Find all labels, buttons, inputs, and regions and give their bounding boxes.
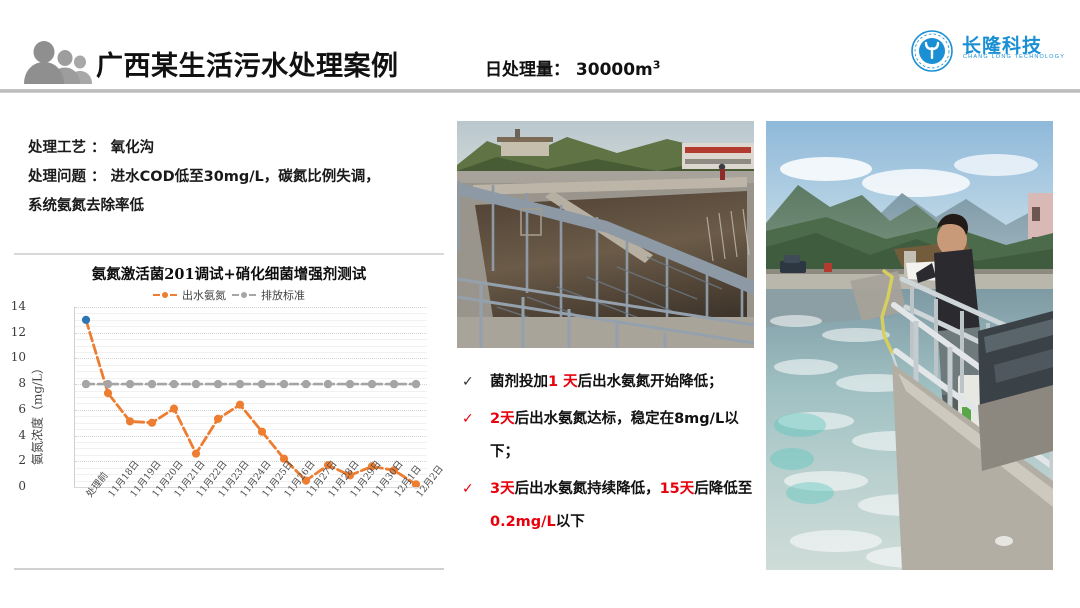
y-tick-label: 14 <box>0 299 26 313</box>
data-point[interactable] <box>126 417 134 425</box>
y-tick-label: 12 <box>0 325 26 339</box>
bullet-text-span: 后出水氨氮达标，稳定在8mg/L以下； <box>490 411 739 460</box>
checkmark-icon: ✓ <box>462 473 474 506</box>
y-tick-label: 8 <box>0 376 26 390</box>
header-divider <box>0 89 1080 93</box>
y-tick-label: 2 <box>0 453 26 467</box>
bullet-text-emphasis: 2天 <box>490 411 515 427</box>
data-point[interactable] <box>236 380 244 388</box>
bullet-text: 菌剂投加1 天后出水氨氮开始降低； <box>490 374 723 390</box>
daily-capacity-text: 日处理量： 30000m <box>485 60 653 80</box>
data-point[interactable] <box>258 380 266 388</box>
legend-dash-right <box>170 294 177 296</box>
bullet-text-span: 以下 <box>556 514 585 530</box>
bullet-text-emphasis: 3天 <box>490 481 515 497</box>
series-line-0 <box>86 320 416 485</box>
legend-dash-left <box>153 294 160 296</box>
legend-item-0[interactable]: 出水氨氮 <box>153 287 226 303</box>
dosing-photo-art <box>766 121 1053 570</box>
data-point[interactable] <box>104 389 112 397</box>
bullet-text-span: 后出水氨氮持续降低， <box>515 481 660 497</box>
bullet-item-1: ✓2天后出水氨氮达标，稳定在8mg/L以下； <box>462 403 762 469</box>
y-tick-label: 6 <box>0 402 26 416</box>
data-point[interactable] <box>82 316 90 324</box>
data-point[interactable] <box>302 380 310 388</box>
bullet-text-span: 后出水氨氮开始降低； <box>578 374 723 390</box>
legend-label: 排放标准 <box>261 287 305 303</box>
changlong-logo-mark <box>910 30 954 72</box>
data-point[interactable] <box>170 405 178 413</box>
data-point[interactable] <box>192 380 200 388</box>
chart-title: 氨氮激活菌201调试+硝化细菌增强剂测试 <box>14 263 444 284</box>
process-info-block: 处理工艺 ： 氧化沟 处理问题 ： 进水COD低至30mg/L，碳氮比例失调， … <box>28 134 448 221</box>
checkmark-icon: ✓ <box>462 403 474 436</box>
data-point[interactable] <box>390 380 398 388</box>
dosing-bacterial-agent-photo <box>766 121 1053 570</box>
conclusion-bullet-list: ✓菌剂投加1 天后出水氨氮开始降低；✓2天后出水氨氮达标，稳定在8mg/L以下；… <box>462 366 762 543</box>
data-point[interactable] <box>258 428 266 436</box>
data-point[interactable] <box>214 415 222 423</box>
data-point[interactable] <box>126 380 134 388</box>
bullet-item-0: ✓菌剂投加1 天后出水氨氮开始降低； <box>462 366 762 399</box>
data-point[interactable] <box>324 380 332 388</box>
company-logo: 长隆科技 CHANG LONG TECHNOLOGY <box>906 30 1066 72</box>
data-point[interactable] <box>148 380 156 388</box>
y-tick-label: 4 <box>0 428 26 442</box>
data-point[interactable] <box>368 380 376 388</box>
slide-header: 广西某生活污水处理案例 日处理量： 30000m3 长隆科技 CHANG LON… <box>0 0 1080 96</box>
data-point[interactable] <box>170 380 178 388</box>
data-point[interactable] <box>148 419 156 427</box>
oxidation-ditch-photo-art <box>457 121 754 348</box>
ammonia-nitrogen-chart: 氨氮激活菌201调试+硝化细菌增强剂测试 出水氨氮排放标准 氨氮浓度（mg/L）… <box>14 253 444 570</box>
daily-capacity-label: 日处理量： 30000m3 <box>485 55 660 80</box>
page-title: 广西某生活污水处理案例 <box>96 44 399 83</box>
y-tick-label: 10 <box>0 350 26 364</box>
bullet-text-span: 后降低至 <box>694 481 752 497</box>
people-group-icon <box>24 40 100 84</box>
bullet-text-emphasis: 15天 <box>660 481 695 497</box>
chart-y-axis-label: 氨氮浓度（mg/L） <box>29 349 46 479</box>
checkmark-icon: ✓ <box>462 366 474 399</box>
bullet-text: 2天后出水氨氮达标，稳定在8mg/L以下； <box>490 411 739 460</box>
logo-subtext: CHANG LONG TECHNOLOGY <box>963 54 1065 60</box>
data-point[interactable] <box>236 401 244 409</box>
legend-marker <box>162 292 168 298</box>
data-point[interactable] <box>214 380 222 388</box>
process-problem-line-2: 系统氨氮去除率低 <box>28 192 448 221</box>
data-point[interactable] <box>82 380 90 388</box>
data-point[interactable] <box>280 380 288 388</box>
chart-legend: 出水氨氮排放标准 <box>14 287 444 303</box>
process-type-line: 处理工艺 ： 氧化沟 <box>28 134 448 163</box>
legend-label: 出水氨氮 <box>182 287 226 303</box>
legend-item-1[interactable]: 排放标准 <box>232 287 305 303</box>
oxidation-ditch-photo <box>457 121 754 348</box>
legend-dash-left <box>232 294 239 296</box>
bullet-text-emphasis: 1 天 <box>548 374 578 390</box>
data-point[interactable] <box>104 380 112 388</box>
bullet-item-2: ✓3天后出水氨氮持续降低，15天后降低至0.2mg/L以下 <box>462 473 762 539</box>
legend-marker <box>241 292 247 298</box>
y-tick-label: 0 <box>0 479 26 493</box>
bullet-text-emphasis: 0.2mg/L <box>490 514 556 530</box>
data-point[interactable] <box>346 380 354 388</box>
data-point[interactable] <box>412 380 420 388</box>
legend-dash-right <box>249 294 256 296</box>
bullet-text-span: 菌剂投加 <box>490 374 548 390</box>
process-problem-line-1: 处理问题 ： 进水COD低至30mg/L，碳氮比例失调， <box>28 163 448 192</box>
daily-capacity-exponent: 3 <box>653 58 661 71</box>
bullet-text: 3天后出水氨氮持续降低，15天后降低至0.2mg/L以下 <box>490 481 752 530</box>
